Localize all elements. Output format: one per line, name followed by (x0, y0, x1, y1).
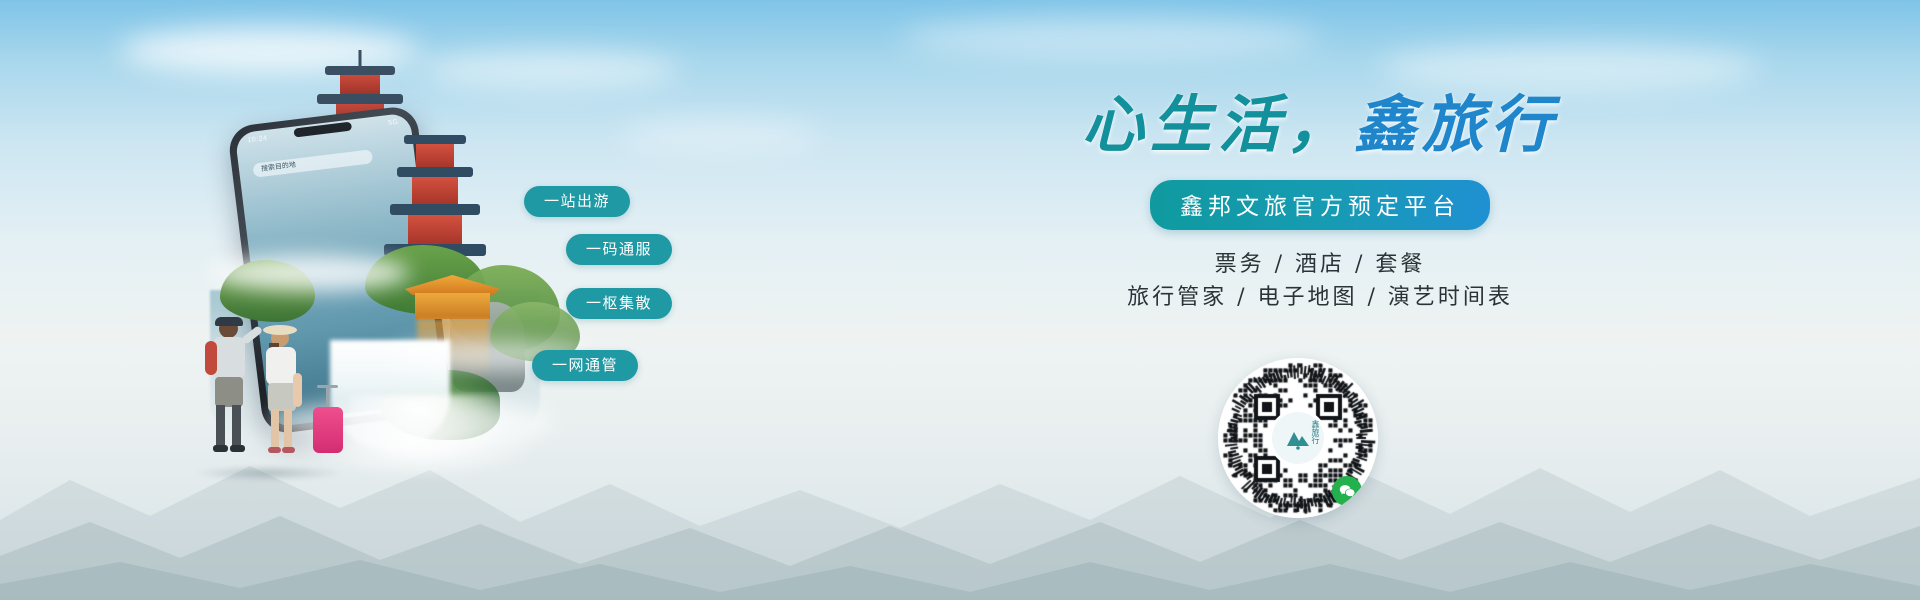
phone-scenery-collage: 10:24 5G 搜索目的地 (150, 40, 710, 490)
wechat-icon (1332, 476, 1362, 506)
traveler-figures (195, 315, 365, 480)
feature-pill-yiwangtongguan[interactable]: 一网通管 (532, 350, 638, 381)
phone-status-network: 5G (388, 119, 399, 127)
platform-badge: 鑫邦文旅官方预定平台 (1150, 180, 1490, 230)
services-line-1: 票务 / 酒店 / 套餐 (1010, 248, 1630, 281)
headline-comma: ， (1286, 88, 1354, 161)
phone-status-time: 10:24 (247, 135, 268, 144)
headline-part-two: 鑫旅行 (1354, 88, 1558, 161)
pink-suitcase (313, 407, 343, 453)
golden-pavilion (405, 275, 500, 335)
mountain-logo-icon (1283, 423, 1313, 453)
brand-logo: 鑫旅行 (1272, 412, 1324, 464)
feature-pill-yishujisan[interactable]: 一枢集散 (566, 288, 672, 319)
cloud-decoration (1380, 44, 1760, 92)
mist-overlay (210, 255, 410, 291)
services-line-2: 旅行管家 / 电子地图 / 演艺时间表 (1010, 281, 1630, 314)
figure-shadow (193, 465, 343, 481)
phone-search-field[interactable]: 搜索目的地 (252, 149, 373, 178)
cloud-decoration (900, 18, 1320, 58)
feature-pill-yizhanchuyou[interactable]: 一站出游 (524, 186, 630, 217)
promo-banner: 10:24 5G 搜索目的地 (0, 0, 1920, 600)
brand-logo-text: 鑫旅行 (1310, 420, 1320, 444)
suitcase-handle (326, 387, 329, 409)
qr-code-circle[interactable]: 鑫旅行 (1218, 358, 1378, 518)
qr-code-block[interactable]: 鑫旅行 (1218, 358, 1378, 518)
headline-part-one: 心生活 (1082, 88, 1286, 161)
qr-center-logo-holder: 鑫旅行 (1269, 409, 1327, 467)
page-title: 心生活，鑫旅行 (1010, 86, 1630, 164)
banner-text-block: 心生活，鑫旅行 鑫邦文旅官方预定平台 票务 / 酒店 / 套餐 旅行管家 / 电… (1010, 86, 1630, 314)
services-list: 票务 / 酒店 / 套餐 旅行管家 / 电子地图 / 演艺时间表 (1010, 248, 1630, 314)
feature-pill-yimatongfu[interactable]: 一码通服 (566, 234, 672, 265)
